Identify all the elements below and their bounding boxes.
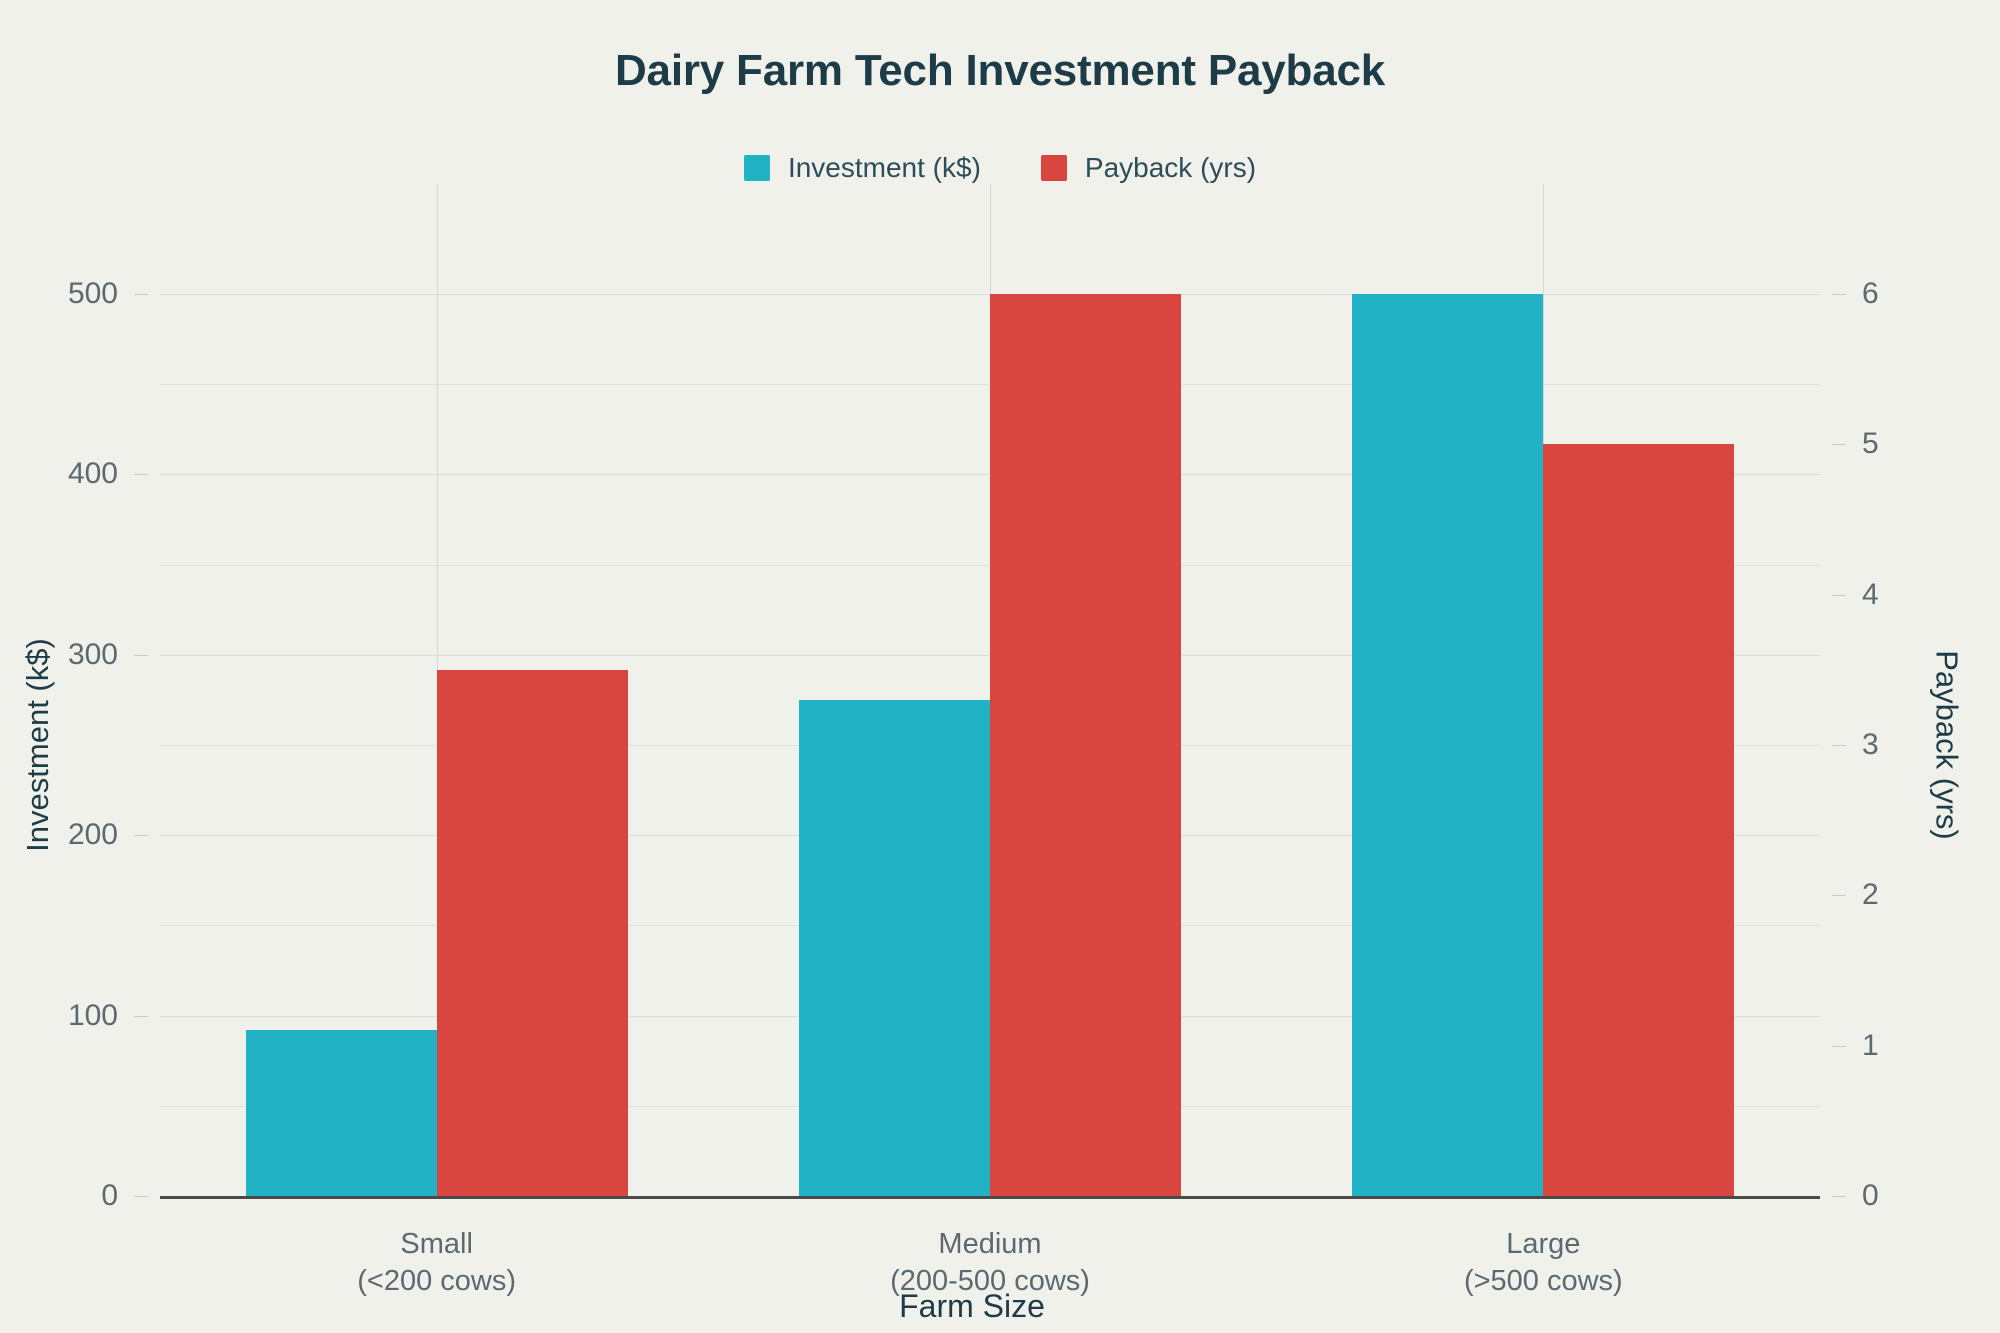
y-tick-mark-right bbox=[1832, 294, 1846, 295]
x-axis-line bbox=[160, 1196, 1820, 1199]
bar-investment[interactable] bbox=[1352, 294, 1543, 1196]
y-tick-label-right: 2 bbox=[1862, 878, 1879, 912]
y-tick-mark-right bbox=[1832, 1046, 1846, 1047]
legend-item-payback[interactable]: Payback (yrs) bbox=[1041, 152, 1256, 184]
bar-investment[interactable] bbox=[246, 1030, 437, 1196]
y-tick-mark-left bbox=[134, 1196, 148, 1197]
y-tick-mark-right bbox=[1832, 595, 1846, 596]
legend-swatch-payback bbox=[1041, 155, 1067, 181]
y-tick-label-left: 400 bbox=[68, 457, 118, 491]
bar-payback[interactable] bbox=[990, 294, 1181, 1196]
legend-label-payback: Payback (yrs) bbox=[1085, 152, 1256, 184]
x-tick-label-primary: Large bbox=[1464, 1226, 1623, 1263]
y-tick-label-right: 5 bbox=[1862, 427, 1879, 461]
bar-investment[interactable] bbox=[799, 700, 990, 1196]
y-tick-label-right: 4 bbox=[1862, 578, 1879, 612]
legend-label-investment: Investment (k$) bbox=[788, 152, 981, 184]
y-tick-mark-left bbox=[134, 835, 148, 836]
chart-container: Dairy Farm Tech Investment Payback Inves… bbox=[0, 0, 2000, 1333]
y-tick-label-left: 500 bbox=[68, 277, 118, 311]
y-axis-label-left: Investment (k$) bbox=[20, 638, 56, 852]
y-tick-label-left: 200 bbox=[68, 818, 118, 852]
bar-payback[interactable] bbox=[1543, 444, 1734, 1196]
y-tick-label-left: 300 bbox=[68, 638, 118, 672]
x-tick-label-primary: Small bbox=[357, 1226, 516, 1263]
y-tick-label-right: 6 bbox=[1862, 277, 1879, 311]
bar-payback[interactable] bbox=[437, 670, 628, 1196]
y-tick-mark-left bbox=[134, 655, 148, 656]
plot-area: Investment (k$) Payback (yrs) 0100200300… bbox=[160, 294, 1820, 1196]
chart-title: Dairy Farm Tech Investment Payback bbox=[0, 46, 2000, 96]
y-tick-label-left: 100 bbox=[68, 999, 118, 1033]
y-tick-label-right: 3 bbox=[1862, 728, 1879, 762]
y-tick-label-left: 0 bbox=[101, 1179, 118, 1213]
legend-item-investment[interactable]: Investment (k$) bbox=[744, 152, 981, 184]
chart-legend: Investment (k$) Payback (yrs) bbox=[0, 152, 2000, 184]
y-tick-mark-left bbox=[134, 1016, 148, 1017]
y-tick-label-right: 1 bbox=[1862, 1029, 1879, 1063]
y-axis-label-right: Payback (yrs) bbox=[1928, 650, 1964, 839]
y-tick-mark-left bbox=[134, 294, 148, 295]
y-tick-mark-right bbox=[1832, 745, 1846, 746]
y-tick-label-right: 0 bbox=[1862, 1179, 1879, 1213]
x-axis-label: Farm Size bbox=[0, 1288, 2000, 1325]
y-tick-mark-right bbox=[1832, 895, 1846, 896]
y-tick-mark-left bbox=[134, 474, 148, 475]
y-tick-mark-right bbox=[1832, 444, 1846, 445]
legend-swatch-investment bbox=[744, 155, 770, 181]
y-tick-mark-right bbox=[1832, 1196, 1846, 1197]
x-tick-label-primary: Medium bbox=[890, 1226, 1090, 1263]
